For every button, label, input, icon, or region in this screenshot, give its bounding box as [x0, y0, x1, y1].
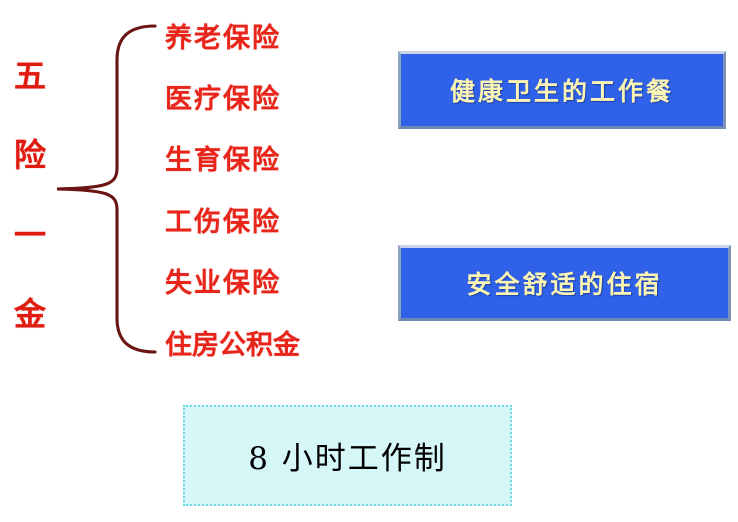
- left-curly-brace-icon: [50, 22, 165, 356]
- list-item-medical-insurance: 医疗保险: [165, 77, 281, 116]
- category-label-vertical: 五 险 一 金: [6, 60, 54, 330]
- work-hours-box: 8 小时工作制: [183, 405, 512, 506]
- benefit-box-meals: 健康卫生的工作餐: [398, 51, 726, 129]
- work-hours-box-label: 8 小时工作制: [248, 433, 447, 478]
- list-item-maternity-insurance: 生育保险: [165, 138, 281, 177]
- category-label-char-3: 一: [14, 219, 46, 251]
- brace-group: [50, 22, 165, 356]
- category-label-char-4: 金: [14, 298, 46, 330]
- slide-canvas: 五 险 一 金 养老保险 医疗保险 生育保险 工伤保险 失业保险 住房公积金 健…: [0, 0, 738, 522]
- benefit-box-meals-label: 健康卫生的工作餐: [450, 72, 674, 108]
- benefit-box-accommodation: 安全舒适的住宿: [398, 245, 731, 321]
- list-item-injury-insurance: 工伤保险: [165, 200, 281, 239]
- category-label-char-2: 险: [14, 139, 46, 171]
- list-item-housing-fund: 住房公积金: [165, 323, 300, 362]
- category-label-char-1: 五: [14, 60, 46, 92]
- insurance-item-list: 养老保险 医疗保险 生育保险 工伤保险 失业保险 住房公积金: [160, 8, 360, 364]
- list-item-pension-insurance: 养老保险: [165, 16, 281, 55]
- list-item-unemployment-insurance: 失业保险: [165, 261, 281, 300]
- benefit-box-accommodation-label: 安全舒适的住宿: [466, 265, 662, 301]
